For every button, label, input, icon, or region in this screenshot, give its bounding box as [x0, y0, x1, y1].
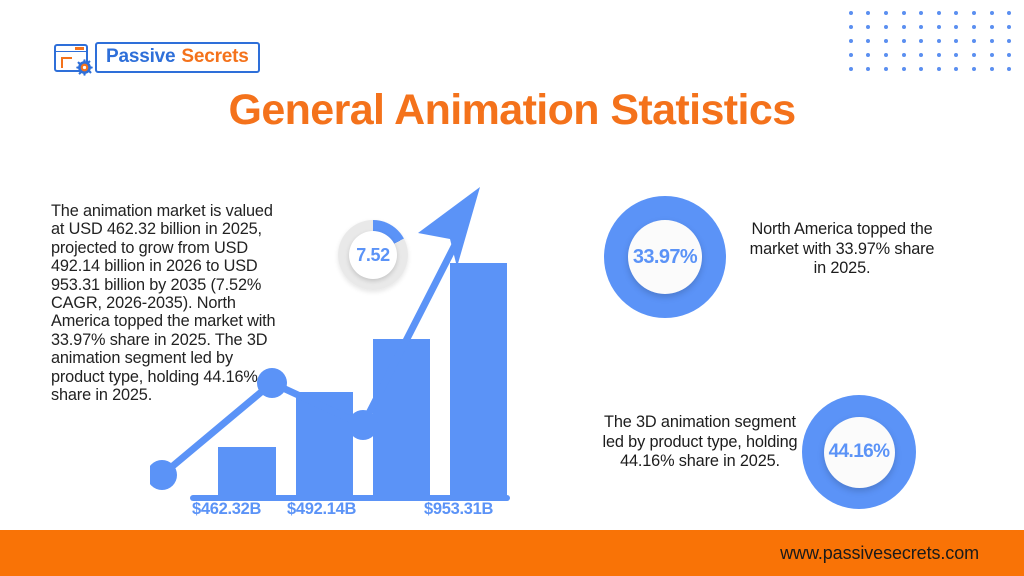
grid-dot	[902, 67, 906, 71]
brand-word-passive: Passive	[106, 46, 175, 68]
chart-marker-1	[257, 368, 287, 398]
brand-wordmark: Passive Secrets	[95, 42, 260, 73]
grid-dot	[884, 53, 888, 57]
chart-bar-3	[373, 339, 430, 497]
grid-dot	[1007, 11, 1011, 15]
page-title: General Animation Statistics	[0, 86, 1024, 135]
grid-dot	[990, 53, 994, 57]
grid-dot	[937, 39, 941, 43]
grid-dot	[849, 39, 853, 43]
grid-dot	[919, 25, 923, 29]
grid-dot	[972, 67, 976, 71]
donut-chart-3d-segment: 44.16%	[802, 395, 916, 509]
brand-word-secrets: Secrets	[181, 46, 248, 68]
stat-caption-north-america: North America topped the market with 33.…	[742, 220, 942, 279]
footer-bar: www.passivesecrets.com	[0, 530, 1024, 576]
cagr-badge-value: 7.52	[349, 231, 397, 279]
chart-bar-label-3: $953.31B	[424, 500, 493, 519]
infographic-canvas: Passive Secrets General Animation Statis…	[0, 0, 1024, 576]
grid-dot	[919, 53, 923, 57]
grid-dot	[884, 39, 888, 43]
donut-chart-north-america: 33.97%	[604, 196, 726, 318]
grid-dot	[937, 25, 941, 29]
grid-dot	[902, 53, 906, 57]
chart-bar-4	[450, 263, 507, 497]
grid-dot	[884, 25, 888, 29]
grid-dot	[1007, 25, 1011, 29]
grid-dot	[937, 67, 941, 71]
grid-dot	[919, 39, 923, 43]
chart-bar-labels: $462.32B $492.14B $953.31B	[150, 500, 530, 524]
grid-dot	[937, 53, 941, 57]
grid-dot	[849, 67, 853, 71]
grid-dot	[972, 53, 976, 57]
grid-dot	[884, 11, 888, 15]
grid-dot	[954, 53, 958, 57]
donut-value-north-america: 33.97%	[628, 220, 702, 294]
grid-dot	[919, 11, 923, 15]
grid-dot	[884, 67, 888, 71]
brand-logo[interactable]: Passive Secrets	[54, 42, 260, 73]
crop-corner-shape	[61, 57, 72, 68]
grid-dot	[954, 11, 958, 15]
grid-dot	[937, 11, 941, 15]
grid-dot	[902, 11, 906, 15]
grid-dot	[954, 39, 958, 43]
grid-dot	[866, 67, 870, 71]
grid-dot	[902, 39, 906, 43]
grid-dot	[972, 25, 976, 29]
cagr-badge: 7.52	[338, 220, 408, 290]
grid-dot	[1007, 67, 1011, 71]
grid-dot	[849, 53, 853, 57]
grid-dot	[972, 39, 976, 43]
grid-dot	[866, 39, 870, 43]
grid-dot	[919, 67, 923, 71]
chart-marker-2	[348, 410, 378, 440]
browser-window-gear-icon	[54, 44, 88, 72]
grid-dot	[866, 25, 870, 29]
chart-bar-label-1: $462.32B	[192, 500, 261, 519]
donut-value-3d-segment: 44.16%	[824, 417, 895, 488]
grid-dot	[1007, 39, 1011, 43]
gear-icon	[76, 59, 93, 76]
grid-dot	[990, 39, 994, 43]
window-titlebar-shape	[56, 46, 86, 52]
grid-dot	[866, 53, 870, 57]
chart-bar-label-2: $492.14B	[287, 500, 356, 519]
grid-dot	[849, 25, 853, 29]
grid-dot	[954, 67, 958, 71]
grid-dot	[954, 25, 958, 29]
footer-website-url[interactable]: www.passivesecrets.com	[780, 543, 979, 564]
stat-caption-3d-segment: The 3D animation segment led by product …	[596, 413, 804, 472]
grid-dot	[990, 67, 994, 71]
grid-dot	[849, 11, 853, 15]
grid-dot	[902, 25, 906, 29]
grid-dot	[1007, 53, 1011, 57]
grid-dot	[990, 25, 994, 29]
dot-grid-decoration	[842, 6, 1018, 76]
grid-dot	[972, 11, 976, 15]
chart-bar-1	[218, 447, 276, 497]
grid-dot	[990, 11, 994, 15]
grid-dot	[866, 11, 870, 15]
